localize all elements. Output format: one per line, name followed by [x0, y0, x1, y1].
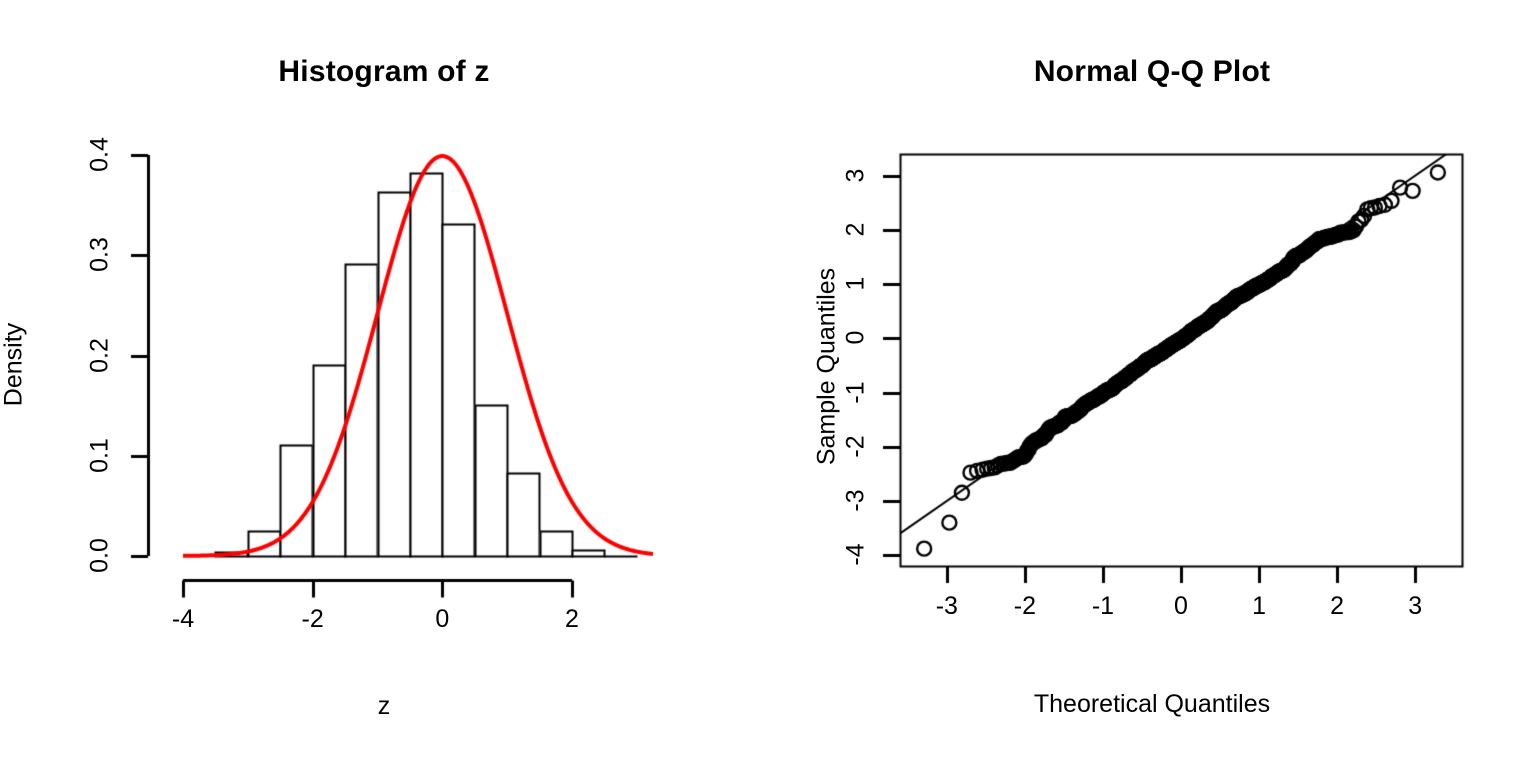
qq-plot-area	[768, 0, 1536, 768]
qq-plot-panel: Normal Q-Q Plot Theoretical Quantiles Sa…	[768, 0, 1536, 768]
histogram-title: Histogram of z	[0, 55, 768, 89]
histogram-y-tick-0.0: 0.0	[86, 521, 115, 591]
histogram-y-tick-0.4: 0.4	[86, 120, 115, 190]
histogram-y-tick-0.1: 0.1	[86, 420, 115, 490]
histogram-x-axis-label: z	[0, 692, 768, 721]
qq-y-tick-3: 3	[842, 140, 871, 210]
histogram-plot-area	[0, 0, 768, 768]
qq-x-tick--1: -1	[1073, 592, 1133, 621]
qq-x-tick-1: 1	[1229, 592, 1289, 621]
histogram-x-tick-0: 0	[412, 605, 472, 634]
histogram-x-tick-2: 2	[542, 605, 602, 634]
histogram-y-tick-0.3: 0.3	[86, 220, 115, 290]
qq-x-tick-3: 3	[1385, 592, 1445, 621]
qq-x-tick-0: 0	[1151, 592, 1211, 621]
qq-x-axis-label: Theoretical Quantiles	[768, 690, 1536, 719]
figure-canvas: Histogram of z z Density -4-202 0.00.10.…	[0, 0, 1536, 768]
qq-plot-title: Normal Q-Q Plot	[768, 55, 1536, 89]
histogram-x-tick--2: -2	[283, 605, 343, 634]
qq-x-tick--3: -3	[917, 592, 977, 621]
histogram-panel: Histogram of z z Density -4-202 0.00.10.…	[0, 0, 768, 768]
qq-x-tick--2: -2	[995, 592, 1055, 621]
qq-x-tick-2: 2	[1307, 592, 1367, 621]
qq-y-axis-label: Sample Quantiles	[813, 237, 842, 497]
histogram-y-axis-label: Density	[0, 305, 29, 425]
histogram-y-tick-0.2: 0.2	[86, 320, 115, 390]
histogram-x-tick--4: -4	[153, 605, 213, 634]
